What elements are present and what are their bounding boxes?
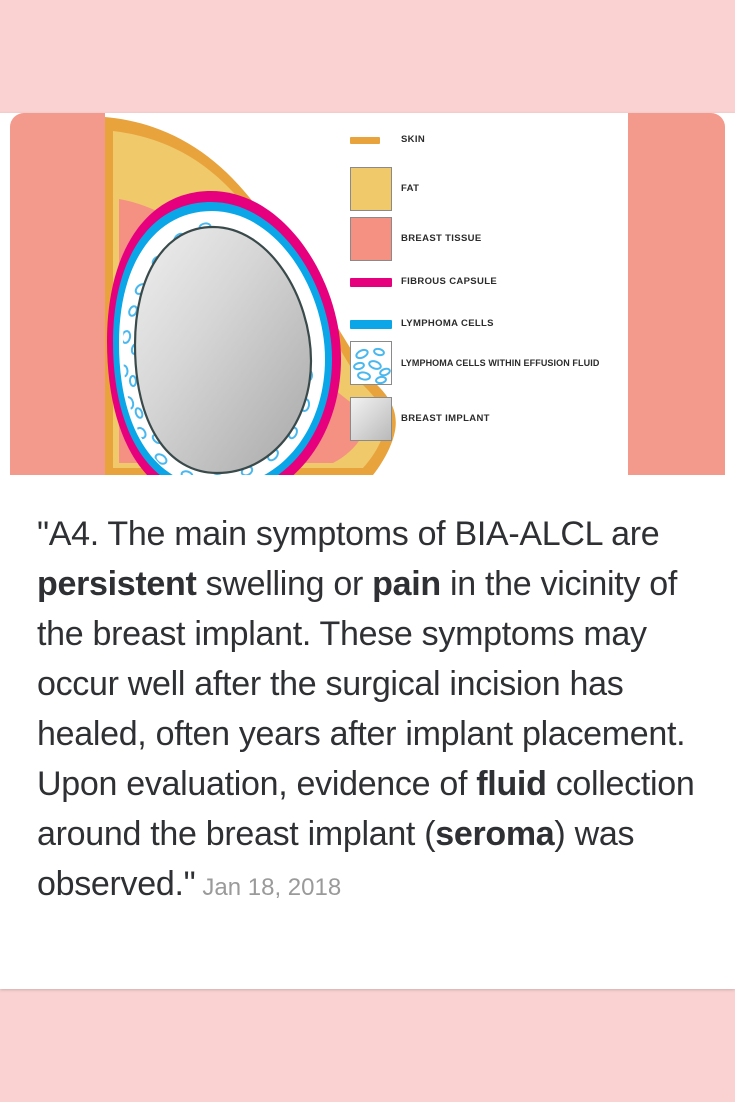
- fibrous-capsule-swatch: [350, 278, 392, 287]
- legend-item-lymphoma-cells: LYMPHOMA CELLS: [350, 309, 494, 339]
- pin-description: "A4. The main symptoms of BIA-ALCL are p…: [37, 509, 695, 913]
- description-fragment: swelling or: [197, 565, 373, 603]
- description-emphasis: pain: [372, 565, 441, 603]
- lymphoma-cells-swatch: [350, 320, 392, 329]
- description-emphasis: seroma: [435, 815, 554, 853]
- description-emphasis: fluid: [476, 765, 546, 803]
- legend-item-effusion-fluid: LYMPHOMA CELLS WITHIN EFFUSION FLUID: [350, 341, 599, 385]
- legend: SKIN FAT BREAST TISSUE FIBROUS CAPSULE L…: [350, 119, 650, 475]
- legend-item-fibrous-capsule: FIBROUS CAPSULE: [350, 267, 497, 297]
- effusion-fluid-swatch: [350, 341, 392, 385]
- legend-label-fibrous-capsule: FIBROUS CAPSULE: [401, 277, 497, 287]
- legend-label-effusion-fluid: LYMPHOMA CELLS WITHIN EFFUSION FLUID: [401, 359, 599, 368]
- legend-label-lymphoma-cells: LYMPHOMA CELLS: [401, 319, 494, 329]
- pin-card[interactable]: SKIN FAT BREAST TISSUE FIBROUS CAPSULE L…: [0, 113, 735, 989]
- description-fragment: "A4. The main symptoms of BIA-ALCL are: [37, 515, 659, 553]
- legend-item-skin: SKIN: [350, 125, 425, 155]
- legend-item-fat: FAT: [350, 167, 419, 211]
- skin-swatch: [350, 137, 380, 144]
- legend-item-breast-tissue: BREAST TISSUE: [350, 217, 482, 261]
- legend-label-fat: FAT: [401, 184, 419, 194]
- breast-tissue-swatch: [350, 217, 392, 261]
- effusion-pattern-icon: [351, 342, 392, 385]
- illustration-frame[interactable]: SKIN FAT BREAST TISSUE FIBROUS CAPSULE L…: [10, 113, 725, 475]
- description-emphasis: persistent: [37, 565, 197, 603]
- legend-label-breast-tissue: BREAST TISSUE: [401, 234, 482, 244]
- legend-item-breast-implant: BREAST IMPLANT: [350, 397, 490, 441]
- pin-date: Jan 18, 2018: [202, 874, 341, 901]
- legend-label-breast-implant: BREAST IMPLANT: [401, 414, 490, 424]
- breast-implant-swatch: [350, 397, 392, 441]
- legend-label-skin: SKIN: [401, 135, 425, 145]
- description-block: "A4. The main symptoms of BIA-ALCL are p…: [0, 475, 735, 913]
- description-body: "A4. The main symptoms of BIA-ALCL are p…: [37, 515, 694, 903]
- fat-swatch: [350, 167, 392, 211]
